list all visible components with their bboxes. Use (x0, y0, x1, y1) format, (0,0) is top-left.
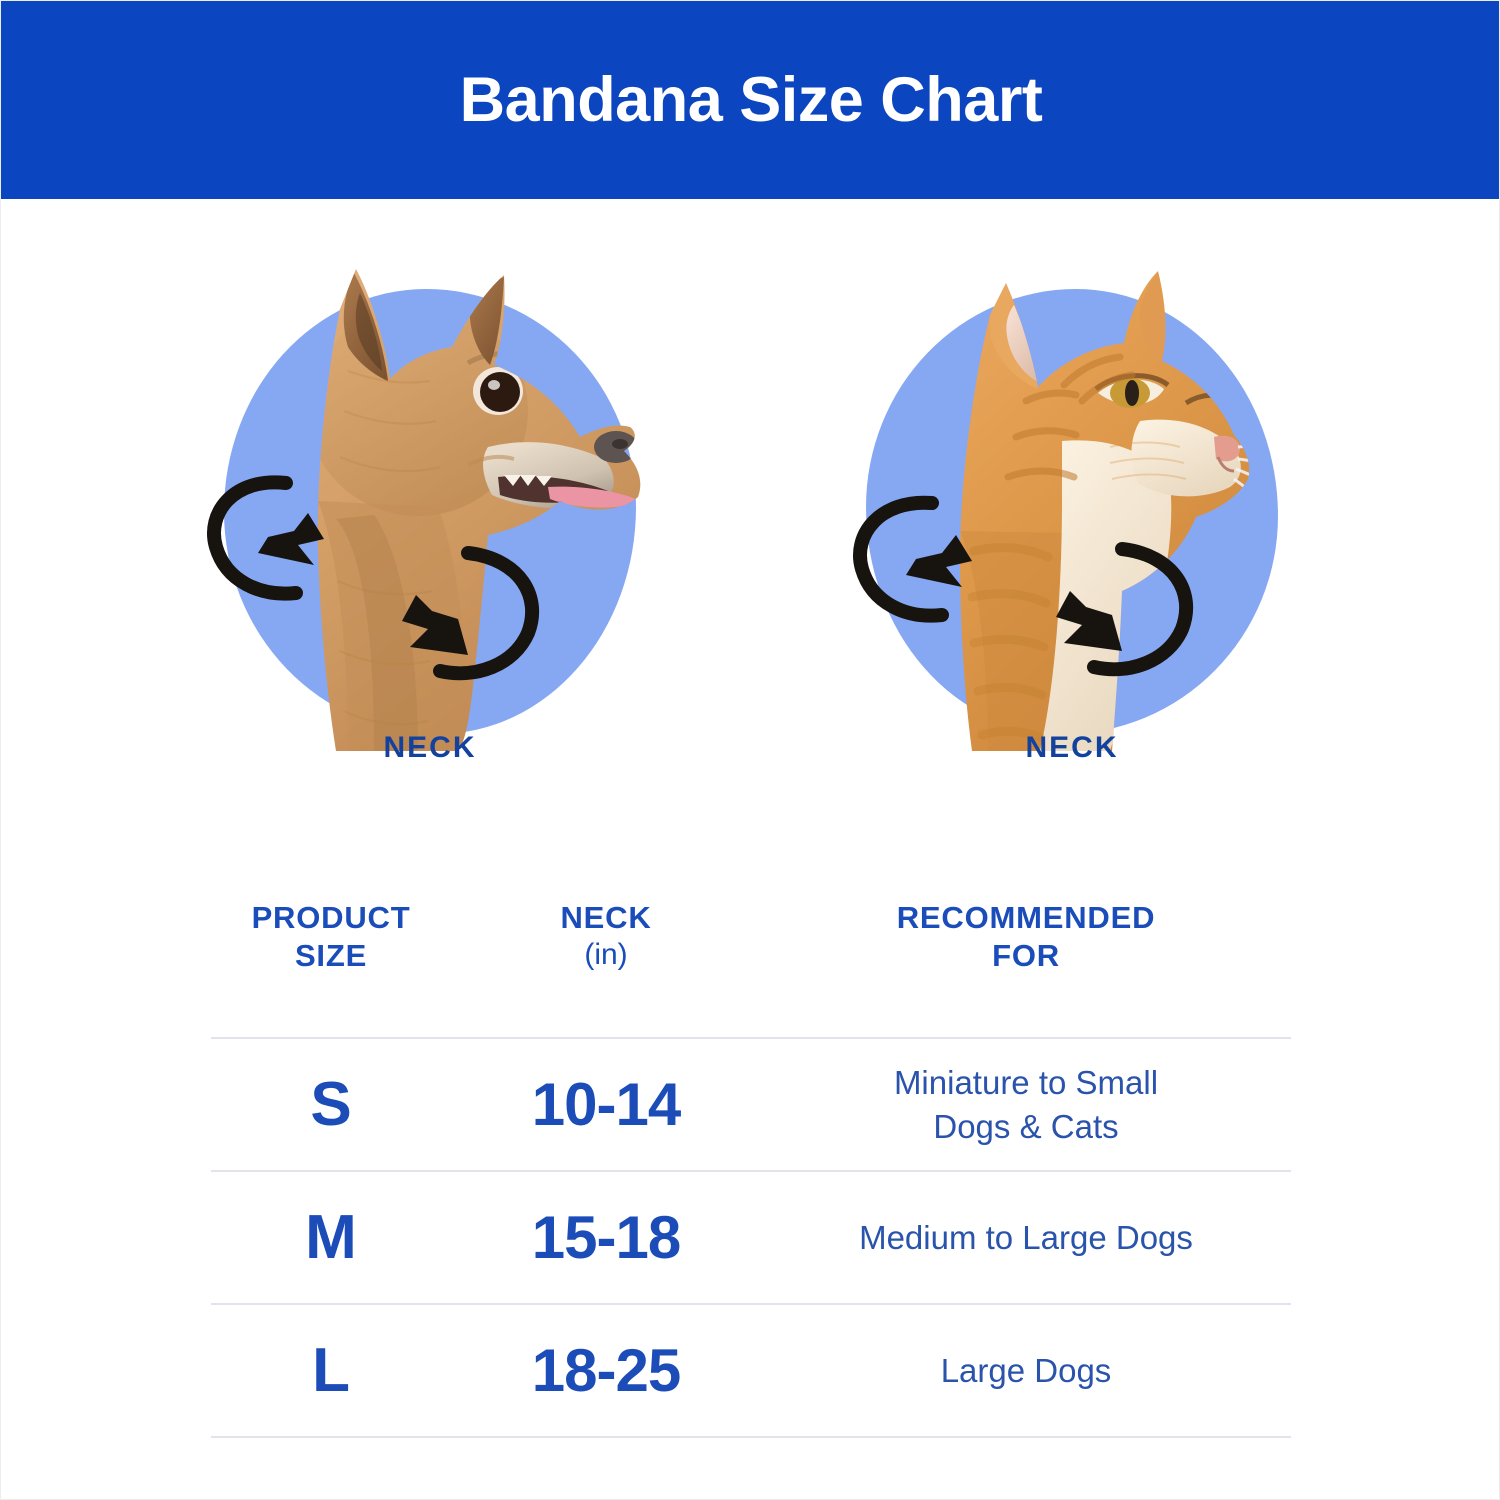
column-header-recommended-line2: FOR (992, 938, 1060, 973)
table-row: S 10-14 Miniature to Small Dogs & Cats (211, 1037, 1291, 1170)
cat-head-photo (810, 251, 1330, 751)
cell-neck-range: 15-18 (451, 1208, 761, 1268)
size-table: PRODUCT SIZE NECK (in) RECOMMENDED FOR S… (211, 881, 1291, 1438)
dog-neck-label: NECK (224, 731, 636, 765)
column-header-neck-label: NECK (560, 900, 651, 935)
cell-recommended-line2: Dogs & Cats (933, 1108, 1118, 1145)
page-title: Bandana Size Chart (460, 69, 1043, 132)
size-chart-page: Bandana Size Chart (0, 0, 1500, 1500)
cat-figure: NECK (866, 251, 1278, 791)
column-header-neck: NECK (in) (451, 899, 761, 973)
cell-product-size: M (211, 1207, 451, 1269)
cell-neck-range: 10-14 (451, 1075, 761, 1135)
cell-neck-range: 18-25 (451, 1341, 761, 1401)
column-header-product-size: PRODUCT SIZE (211, 899, 451, 975)
cell-recommended-for: Miniature to Small Dogs & Cats (761, 1061, 1291, 1148)
dog-figure: NECK (224, 251, 636, 791)
column-header-product-size-line1: PRODUCT (252, 900, 411, 935)
cell-recommended-line1: Miniature to Small (894, 1064, 1158, 1101)
column-header-product-size-line2: SIZE (295, 938, 367, 973)
table-row: L 18-25 Large Dogs (211, 1303, 1291, 1436)
illustration-row: NECK (1, 251, 1500, 791)
column-header-recommended-line1: RECOMMENDED (897, 900, 1156, 935)
cell-recommended-for: Medium to Large Dogs (761, 1216, 1291, 1260)
cell-product-size: S (211, 1074, 451, 1136)
table-bottom-divider (211, 1436, 1291, 1438)
table-row: M 15-18 Medium to Large Dogs (211, 1170, 1291, 1303)
dog-head-photo (168, 251, 688, 751)
cell-product-size: L (211, 1340, 451, 1402)
cell-recommended-for: Large Dogs (761, 1349, 1291, 1393)
header-banner: Bandana Size Chart (1, 1, 1500, 199)
table-header-row: PRODUCT SIZE NECK (in) RECOMMENDED FOR (211, 881, 1291, 1037)
cell-recommended-line1: Medium to Large Dogs (859, 1219, 1193, 1256)
column-header-recommended-for: RECOMMENDED FOR (761, 899, 1291, 975)
column-header-neck-unit: (in) (451, 937, 761, 974)
cell-recommended-line1: Large Dogs (941, 1352, 1112, 1389)
cat-neck-label: NECK (866, 731, 1278, 765)
